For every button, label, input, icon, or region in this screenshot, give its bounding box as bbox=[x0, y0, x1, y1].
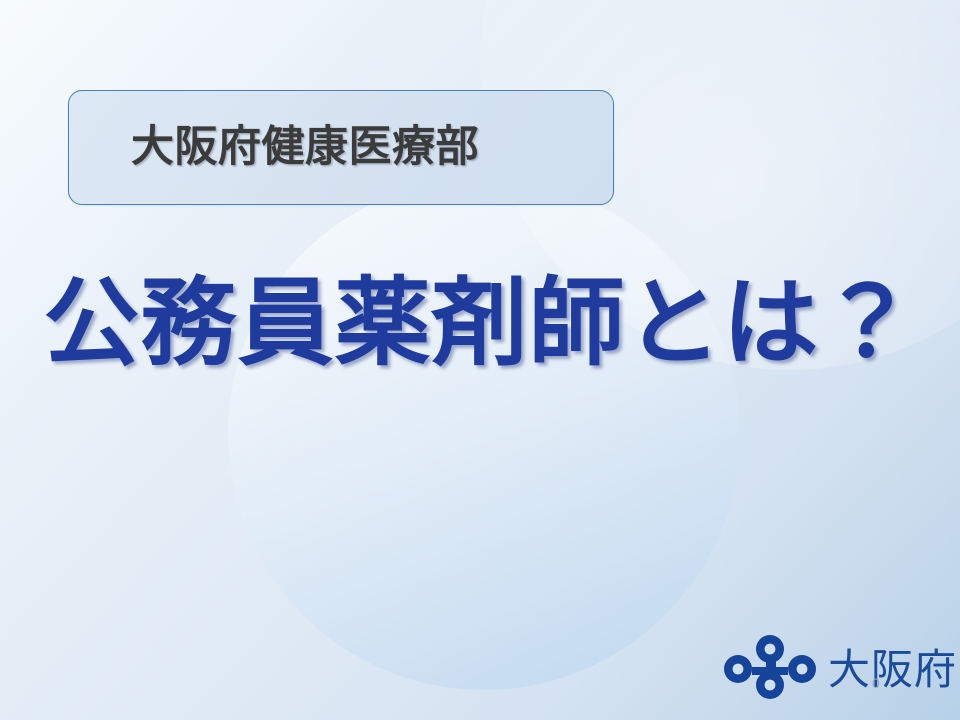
background-circle-watermark bbox=[228, 178, 740, 690]
page-title: 公務員薬剤師とは？ bbox=[0, 272, 960, 376]
presentation-slide: 大阪府健康医療部 公務員薬剤師とは？ bbox=[0, 0, 960, 720]
osaka-prefecture-mark-icon bbox=[722, 634, 818, 705]
osaka-prefecture-logo-text: 大阪府 bbox=[828, 649, 957, 691]
osaka-prefecture-logo: 大阪府 bbox=[722, 634, 957, 705]
department-header-label: 大阪府健康医療部 bbox=[131, 126, 479, 169]
department-header-box: 大阪府健康医療部 bbox=[68, 90, 614, 205]
slide-number: 0 bbox=[872, 676, 880, 690]
